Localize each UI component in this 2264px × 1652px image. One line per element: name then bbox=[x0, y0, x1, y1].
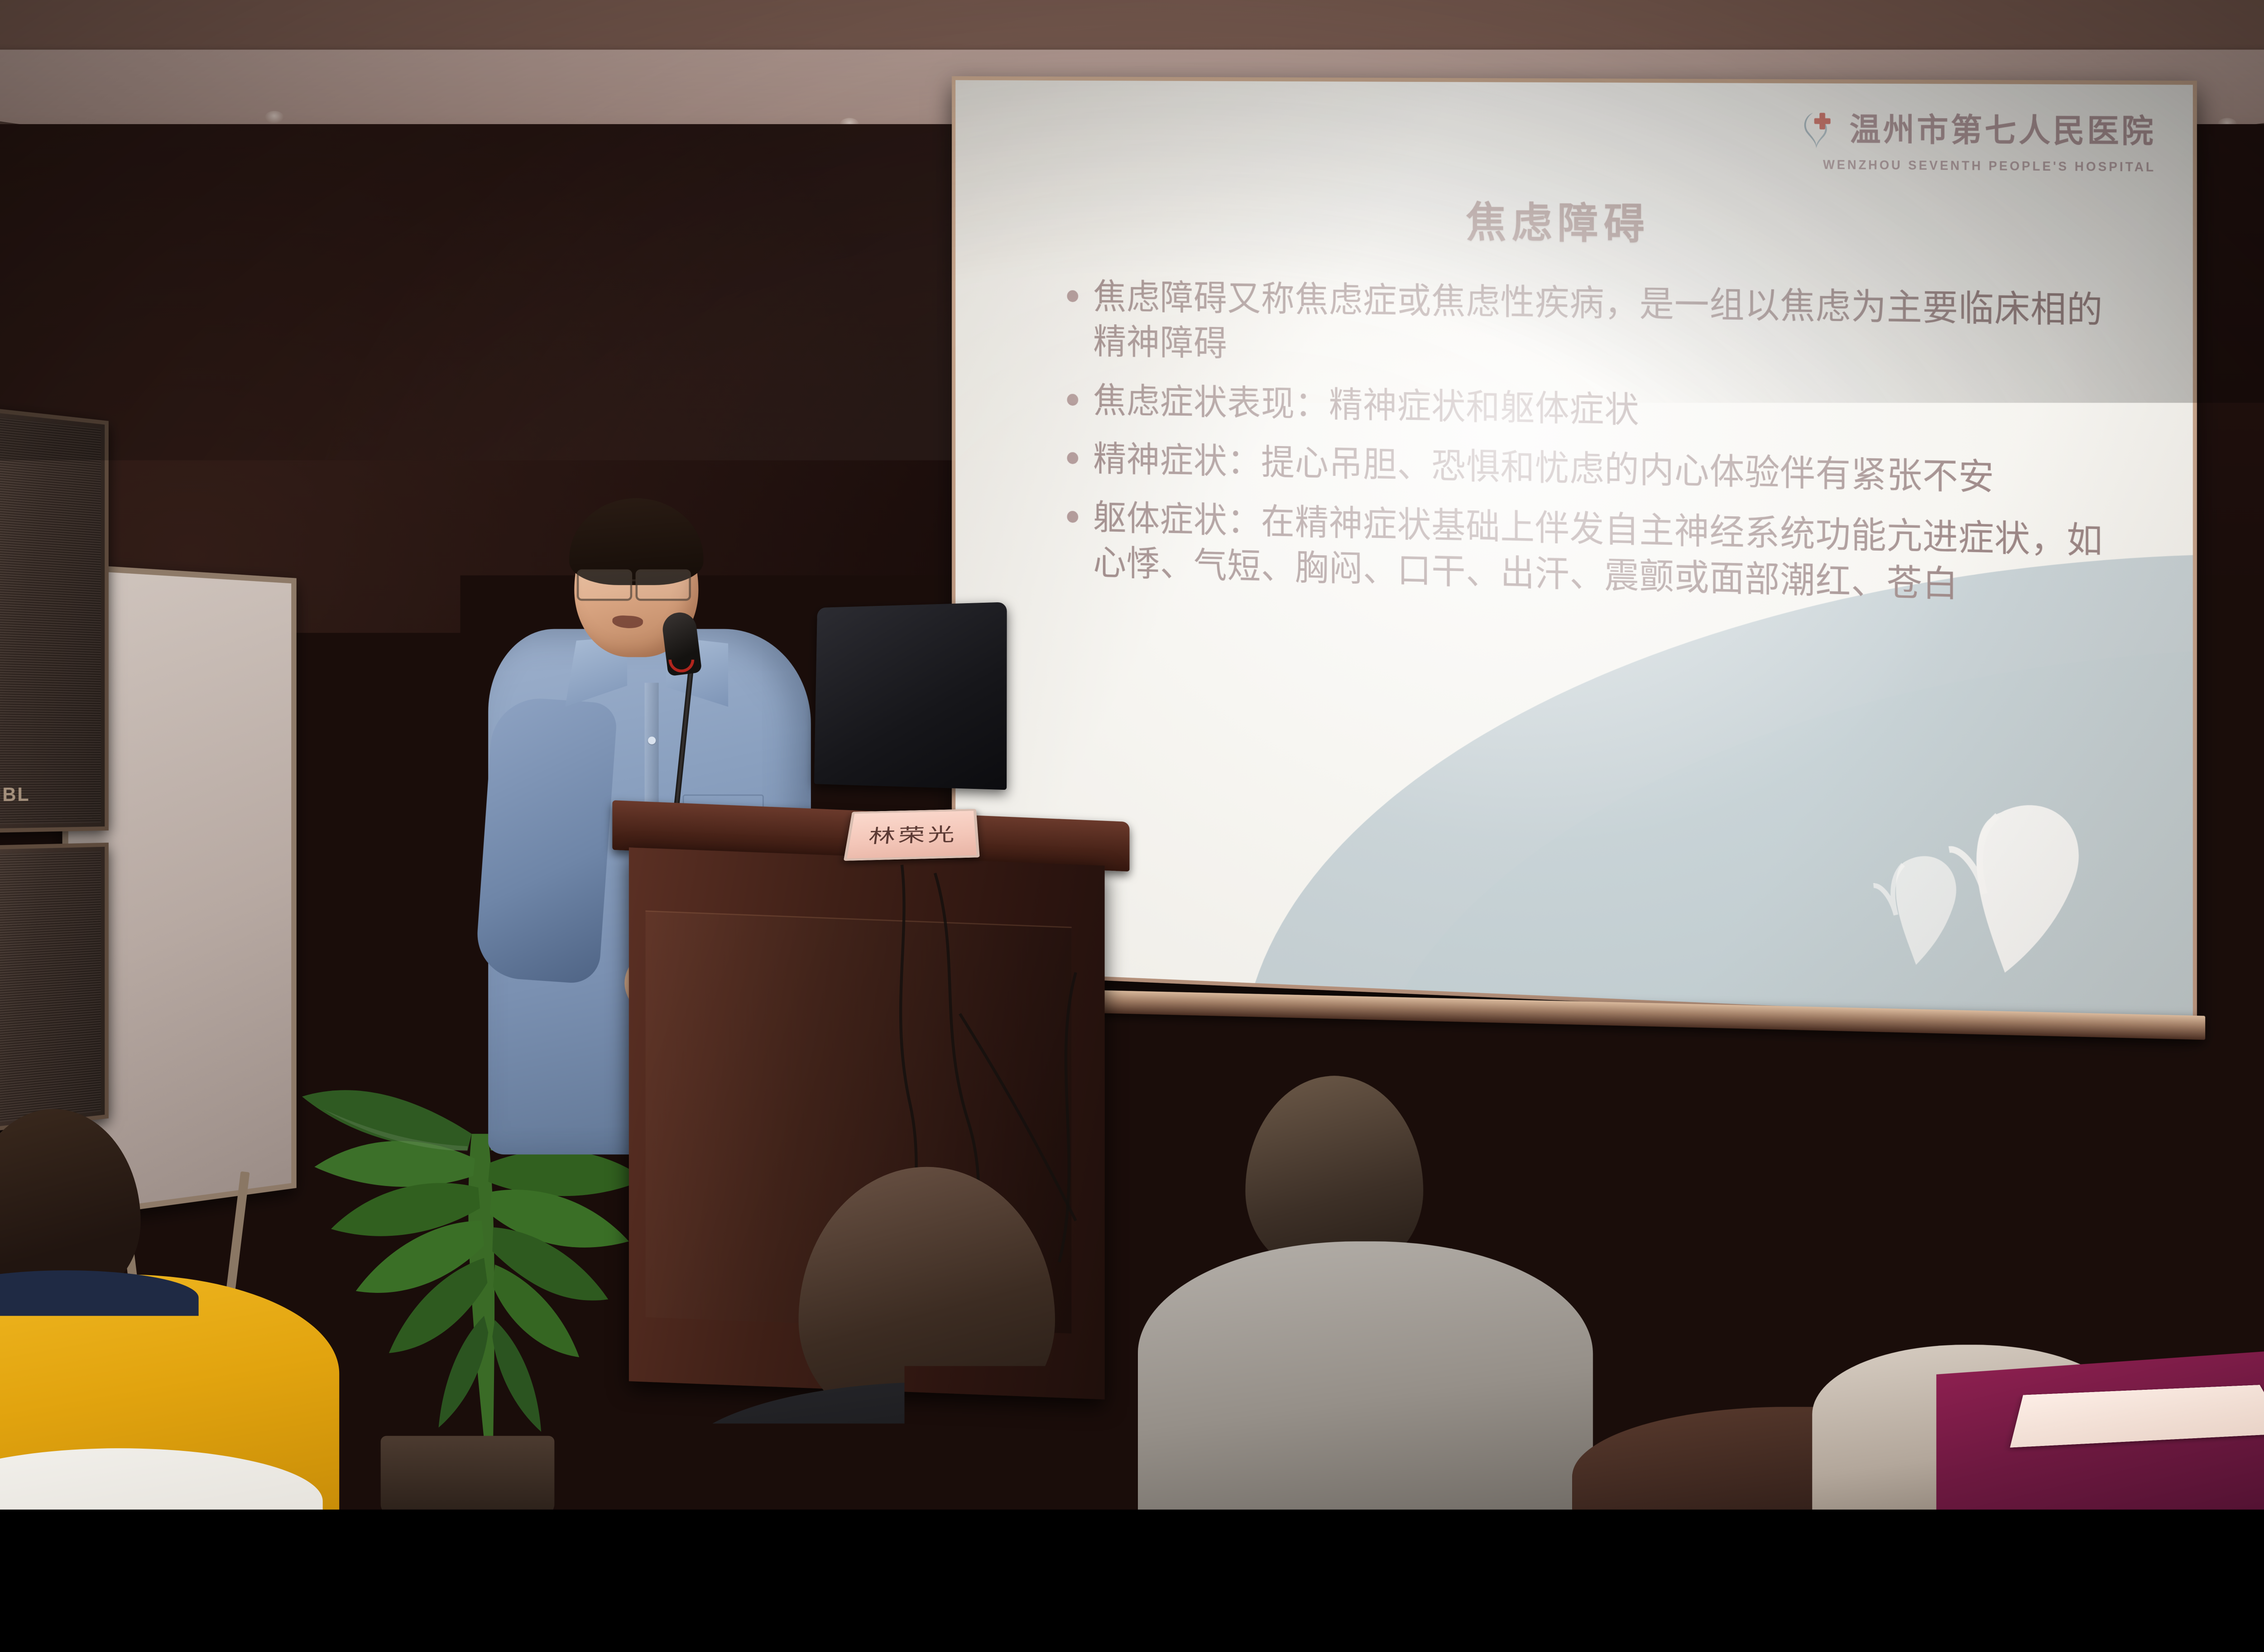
bullet-dot-icon bbox=[1067, 452, 1078, 464]
hospital-logo-english: WENZHOU SEVENTH PEOPLE'S HOSPITAL bbox=[1823, 158, 2156, 175]
bullet-text: 躯体症状：在精神症状基础上伴发自主神经系统功能亢进症状，如心悸、气短、胸闷、口干… bbox=[1093, 495, 2127, 612]
list-item: 精神症状：提心吊胆、恐惧和忧虑的内心体验伴有紧张不安 bbox=[1067, 436, 2145, 504]
audience-member-center-right bbox=[1183, 1076, 1547, 1510]
hospital-logo: 温州市第七人民医院 WENZHOU SEVENTH PEOPLE'S HOSPI… bbox=[1796, 107, 2156, 175]
downlight-6 bbox=[265, 111, 284, 123]
slide-bullet-list: 焦虑障碍又称焦虑症或焦虑性疾病，是一组以焦虑为主要临床相的精神障碍 焦虑症状表现… bbox=[1067, 274, 2145, 626]
heart-decoration-icon bbox=[1856, 759, 2115, 981]
laptop[interactable] bbox=[811, 604, 1022, 819]
glasses-lens-right bbox=[636, 569, 691, 600]
audience-shoulders bbox=[1138, 1241, 1593, 1509]
presenter-name: 林荣光 bbox=[867, 820, 958, 848]
audience-member-left bbox=[0, 1109, 323, 1510]
list-item: 躯体症状：在精神症状基础上伴发自主神经系统功能亢进症状，如心悸、气短、胸闷、口干… bbox=[1067, 494, 2145, 612]
jbl-speaker-stack: JBL bbox=[0, 406, 109, 1133]
speaker-brand-label: JBL bbox=[0, 783, 30, 806]
bullet-dot-icon bbox=[1067, 394, 1078, 406]
speaker-cabinet-bottom bbox=[0, 843, 109, 1133]
bullet-dot-icon bbox=[1067, 290, 1078, 302]
conference-photo-scene: 温州市第七人民医院 WENZHOU SEVENTH PEOPLE'S HOSPI… bbox=[0, 0, 2264, 1509]
list-item: 焦虑症状表现：精神症状和躯体症状 bbox=[1067, 377, 2145, 443]
bullet-text: 焦虑障碍又称焦虑症或焦虑性疾病，是一组以焦虑为主要临床相的精神障碍 bbox=[1093, 274, 2127, 381]
plant-pot bbox=[381, 1436, 555, 1510]
presenter-left-arm bbox=[475, 695, 618, 984]
speaker-grill bbox=[0, 851, 101, 1124]
hospital-logo-icon bbox=[1796, 107, 1841, 153]
glasses-bridge bbox=[627, 579, 639, 581]
glasses-lens-left bbox=[577, 569, 632, 600]
hair-tie-icon bbox=[1829, 1320, 1861, 1346]
bullet-text: 精神症状：提心吊胆、恐惧和忧虑的内心体验伴有紧张不安 bbox=[1093, 436, 1994, 501]
list-item: 焦虑障碍又称焦虑症或焦虑性疾病，是一组以焦虑为主要临床相的精神障碍 bbox=[1067, 274, 2145, 381]
bullet-text: 焦虑症状表现：精神症状和躯体症状 bbox=[1093, 378, 1639, 433]
audience-member-center: PHILIPP PL MEETS bbox=[728, 1167, 1167, 1510]
speaker-grill bbox=[0, 416, 101, 825]
glasses-icon bbox=[573, 566, 701, 602]
slide-title: 焦虑障碍 bbox=[955, 184, 2193, 257]
bullet-dot-icon bbox=[1067, 511, 1078, 523]
laptop-lid bbox=[814, 602, 1007, 790]
hospital-logo-chinese: 温州市第七人民医院 bbox=[1849, 114, 2156, 148]
speaker-cabinet-top: JBL bbox=[0, 406, 109, 833]
